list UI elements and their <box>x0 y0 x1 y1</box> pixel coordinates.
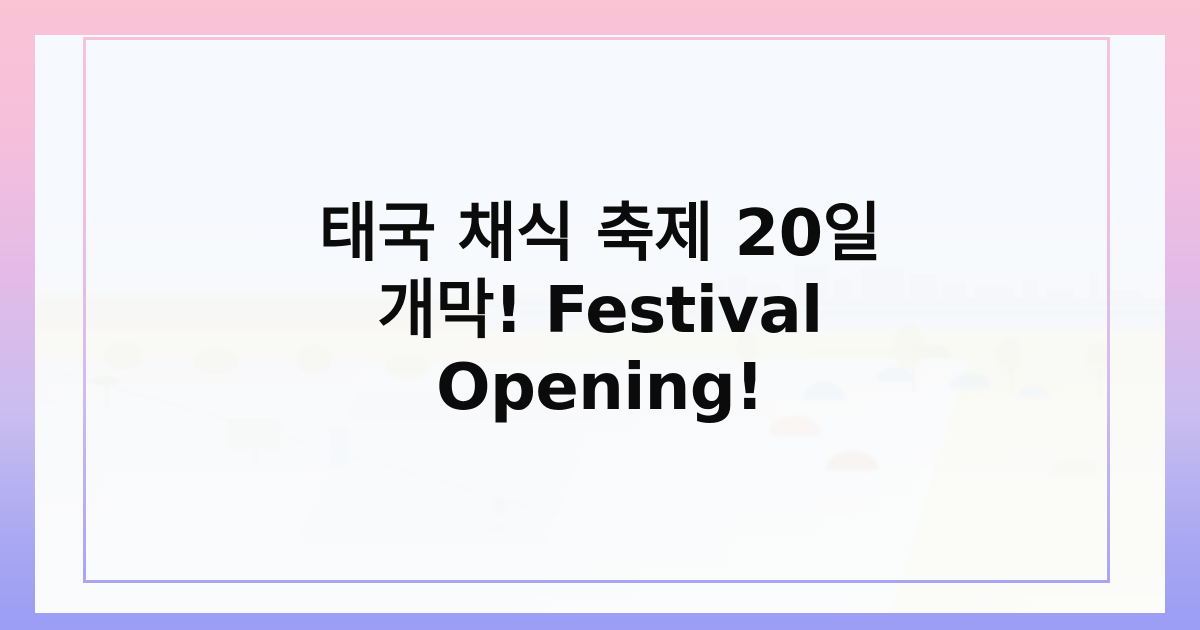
cyclist <box>493 497 507 515</box>
cyclist-bike <box>488 526 506 533</box>
poster-card: 태국 채식 축제 20일 개막! Festival Opening! <box>0 0 1200 630</box>
park-notice-panel <box>329 428 348 466</box>
page-title: 태국 채식 축제 20일 개막! Festival Opening! <box>0 196 1200 427</box>
signboard-post <box>253 448 259 466</box>
